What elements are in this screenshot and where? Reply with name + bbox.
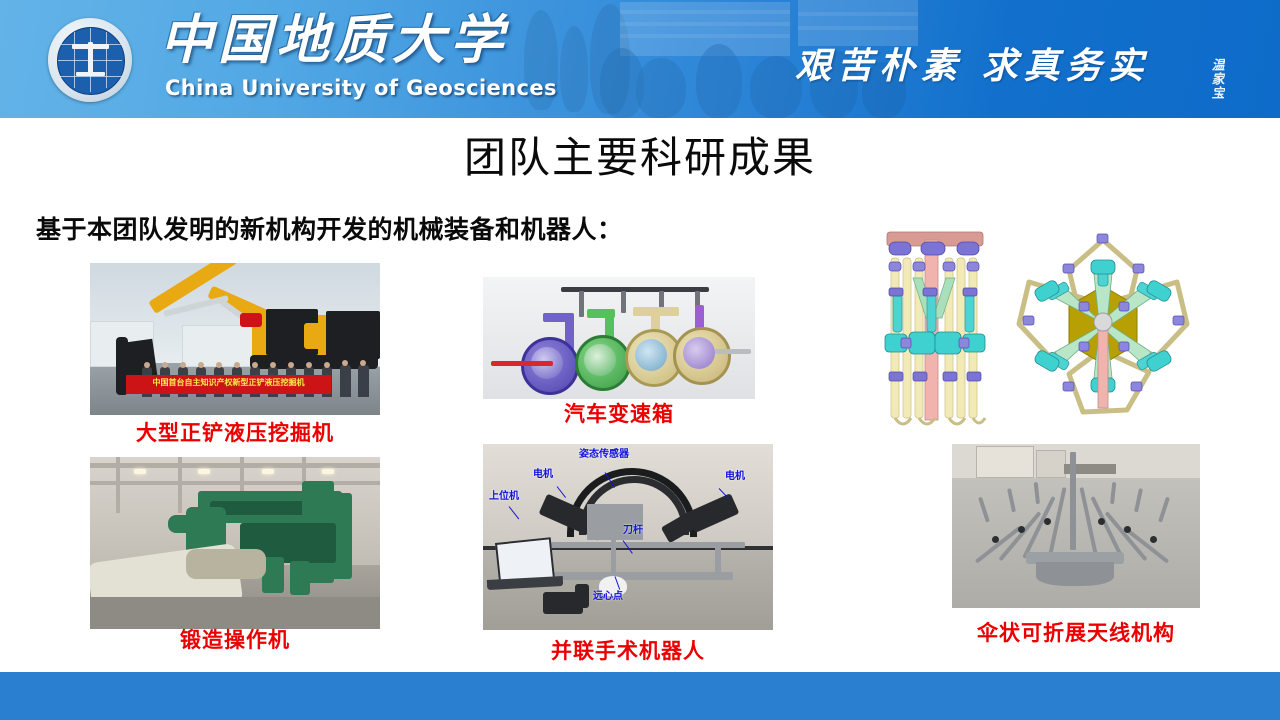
annotation-remote-center-point: 远心点 bbox=[593, 592, 623, 602]
excavator-caption: 大型正铲液压挖掘机 bbox=[90, 423, 380, 444]
deployable-antenna-caption: 伞状可折展天线机构 bbox=[900, 623, 1252, 644]
page-title: 团队主要科研成果 bbox=[0, 135, 1280, 181]
antenna-cad-svg bbox=[865, 222, 1225, 434]
forging-manipulator-caption: 锻造操作机 bbox=[90, 630, 380, 651]
surgical-robot-photo: 姿态传感器 电机 电机 上位机 刀杆 远心点 bbox=[483, 444, 773, 630]
annotation-motor-right: 电机 bbox=[725, 472, 745, 482]
university-name-chinese: 中国地质大学 bbox=[160, 14, 508, 67]
forging-manipulator-photo bbox=[90, 457, 380, 629]
university-name-english: China University of Geosciences bbox=[165, 76, 557, 100]
excavator-banner-text: 中国首台自主知识产权新型正铲液压挖掘机 bbox=[126, 377, 331, 388]
annotation-motor-left: 电机 bbox=[533, 470, 553, 480]
annotation-host-computer: 上位机 bbox=[489, 492, 519, 502]
umbrella-antenna-photo bbox=[952, 444, 1200, 608]
deployable-antenna-cad bbox=[865, 222, 1225, 434]
university-motto: 艰苦朴素 求真务实 bbox=[795, 48, 1150, 84]
motto-signature: 温家宝 bbox=[1209, 58, 1223, 100]
university-emblem-icon bbox=[48, 18, 132, 102]
header-banner: 中国地质大学 China University of Geosciences 艰… bbox=[0, 0, 1280, 118]
gearbox-caption: 汽车变速箱 bbox=[483, 404, 755, 425]
annotation-tool-shaft: 刀杆 bbox=[623, 526, 643, 536]
excavator-photo: 中国首台自主知识产权新型正铲液压挖掘机 bbox=[90, 263, 380, 415]
annotation-attitude-sensor: 姿态传感器 bbox=[579, 450, 629, 460]
footer-bar bbox=[0, 672, 1280, 720]
slide-subtitle: 基于本团队发明的新机构开发的机械装备和机器人： bbox=[36, 210, 623, 246]
surgical-robot-caption: 并联手术机器人 bbox=[483, 641, 773, 662]
gearbox-cad-image bbox=[483, 277, 755, 399]
